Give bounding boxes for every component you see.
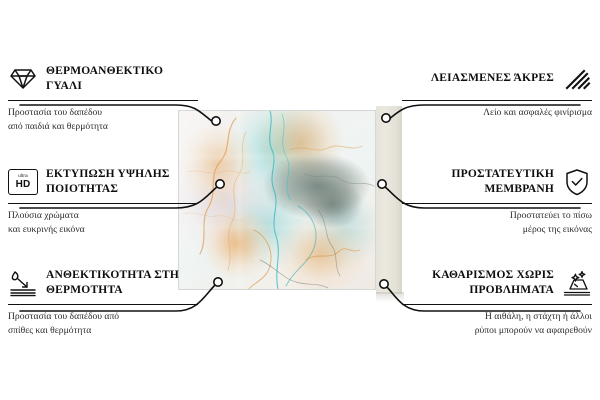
feature-heading: ΛΕΙΑΣΜΕΝΕΣ ΆΚΡΕΣ xyxy=(402,62,592,96)
feature-heat-glass: ΘΕΡΜΟΑΝΘΕΚΤΙΚΟ ΓΥΑΛΙ Προστασία του δαπέδ… xyxy=(8,62,198,134)
product-side-panel xyxy=(376,106,402,294)
marble-vein-strokes xyxy=(178,110,376,290)
feature-heading: ΠΡΟΣΤΑΤΕΥΤΙΚΗ ΜΕΜΒΡΑΝΗ xyxy=(402,165,592,199)
feature-body: Προστασία του δαπέδου από παιδιά και θερ… xyxy=(8,106,198,134)
feature-divider xyxy=(8,203,198,204)
feature-heading: ΚΑΘΑΡΙΣΜΟΣ ΧΩΡΙΣ ΠΡΟΒΛΗΜΑΤΑ xyxy=(402,266,592,300)
feature-membrane: ΠΡΟΣΤΑΤΕΥΤΙΚΗ ΜΕΜΒΡΑΝΗ Προστατεύει το πί… xyxy=(402,165,592,237)
feature-body: Πλούσια χρώματα και ευκρινής εικόνα xyxy=(8,209,198,237)
diamond-icon xyxy=(8,64,38,94)
feature-heat-resist: ΑΝΘΕΚΤΙΚΟΤΗΤΑ ΣΤΗ ΘΕΡΜΟΤΗΤΑ Προστασία το… xyxy=(8,266,198,338)
feature-heading: ΘΕΡΜΟΑΝΘΕΚΤΙΚΟ ΓΥΑΛΙ xyxy=(8,62,198,96)
feature-title: ΚΑΘΑΡΙΣΜΟΣ ΧΩΡΙΣ ΠΡΟΒΛΗΜΑΤΑ xyxy=(402,268,554,298)
feature-easy-clean: ΚΑΘΑΡΙΣΜΟΣ ΧΩΡΙΣ ΠΡΟΒΛΗΜΑΤΑ Η αιθάλη, η … xyxy=(402,266,592,338)
flame-deflect-icon xyxy=(8,268,38,298)
feature-title: ΕΚΤΥΠΩΣΗ ΥΨΗΛΗΣ ΠΟΙΟΤΗΤΑΣ xyxy=(46,167,198,197)
product-side-shadow xyxy=(376,292,404,302)
feature-divider xyxy=(402,100,592,101)
product-front-face xyxy=(178,110,376,290)
feature-title: ΠΡΟΣΤΑΤΕΥΤΙΚΗ ΜΕΜΒΡΑΝΗ xyxy=(402,167,554,197)
feature-heading: ultra HD ΕΚΤΥΠΩΣΗ ΥΨΗΛΗΣ ΠΟΙΟΤΗΤΑΣ xyxy=(8,165,198,199)
feature-title: ΘΕΡΜΟΑΝΘΕΚΤΙΚΟ ΓΥΑΛΙ xyxy=(46,64,198,94)
product-image xyxy=(178,110,400,290)
feature-divider xyxy=(402,203,592,204)
feature-title: ΛΕΙΑΣΜΕΝΕΣ ΆΚΡΕΣ xyxy=(402,71,554,86)
ultra-hd-icon: ultra HD xyxy=(8,167,38,197)
feature-body: Προστασία του δαπέδου από σπίθες και θερ… xyxy=(8,310,198,338)
feature-smooth-edges: ΛΕΙΑΣΜΕΝΕΣ ΆΚΡΕΣ Λείο και ασφαλές φινίρι… xyxy=(402,62,592,120)
feature-title: ΑΝΘΕΚΤΙΚΟΤΗΤΑ ΣΤΗ ΘΕΡΜΟΤΗΤΑ xyxy=(46,268,198,298)
feature-heading: ΑΝΘΕΚΤΙΚΟΤΗΤΑ ΣΤΗ ΘΕΡΜΟΤΗΤΑ xyxy=(8,266,198,300)
feature-body: Η αιθάλη, η στάχτη ή άλλοι ρύποι μπορούν… xyxy=(402,310,592,338)
feature-body: Λείο και ασφαλές φινίρισμα xyxy=(402,106,592,120)
sponge-sparkle-icon xyxy=(562,268,592,298)
shield-check-icon xyxy=(562,167,592,197)
feature-divider xyxy=(8,100,198,101)
ultra-hd-icon-large-text: HD xyxy=(16,180,31,190)
diagonal-stripes-icon xyxy=(562,64,592,94)
feature-print-quality: ultra HD ΕΚΤΥΠΩΣΗ ΥΨΗΛΗΣ ΠΟΙΟΤΗΤΑΣ Πλούσ… xyxy=(8,165,198,237)
feature-body: Προστατεύει το πίσω μέρος της εικόνας xyxy=(402,209,592,237)
feature-divider xyxy=(8,304,198,305)
feature-divider xyxy=(402,304,592,305)
